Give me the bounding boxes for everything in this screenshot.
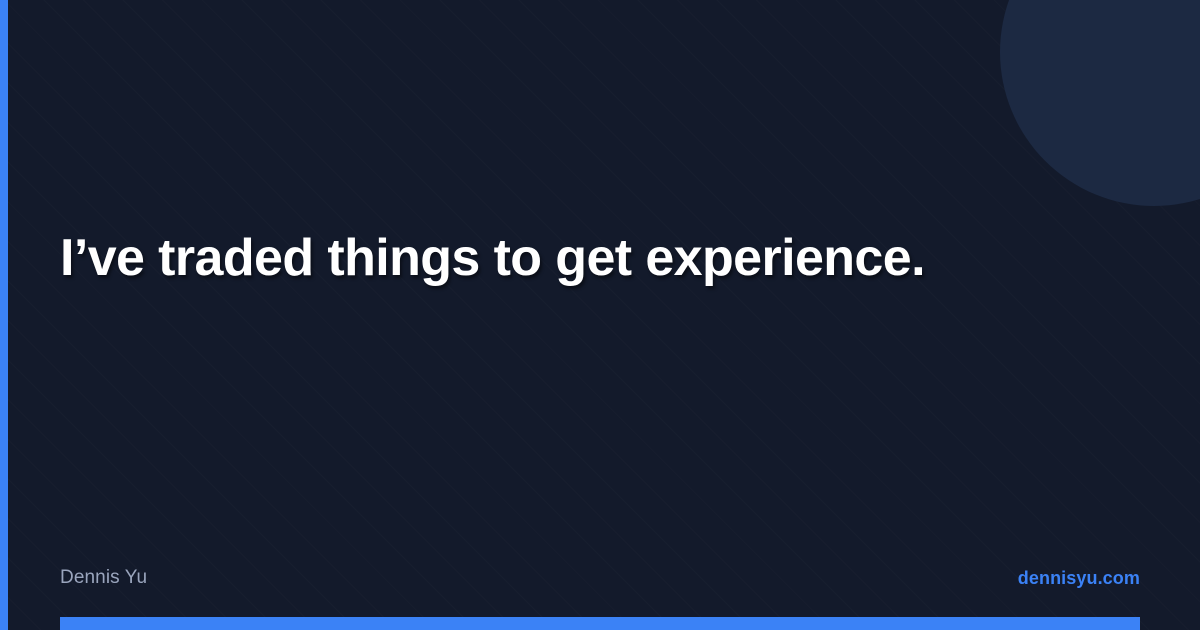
bottom-accent-rail (60, 617, 1140, 630)
left-accent-rail (0, 0, 8, 630)
author-name: Dennis Yu (60, 567, 147, 589)
headline-text: I’ve traded things to get experience. (60, 228, 1080, 289)
site-url-link[interactable]: dennisyu.com (1018, 568, 1140, 589)
corner-circle-decoration (1000, 0, 1200, 206)
card-footer: Dennis Yu dennisyu.com (60, 566, 1140, 590)
quote-card: I’ve traded things to get experience. De… (0, 0, 1200, 630)
